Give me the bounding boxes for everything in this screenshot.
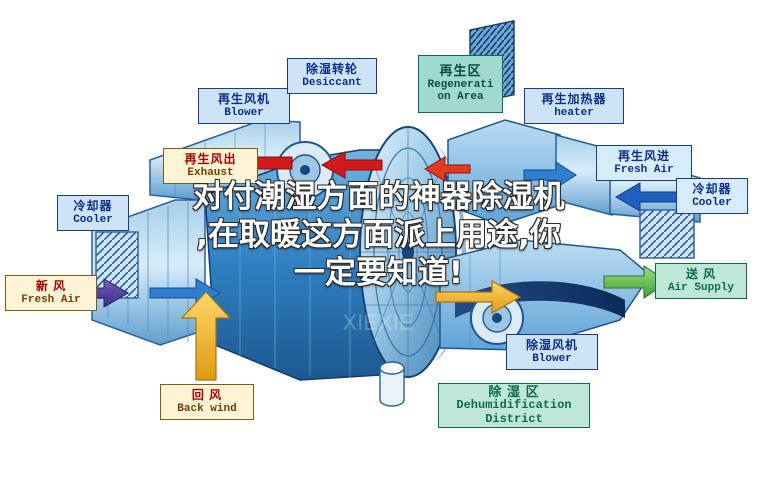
label-regen-heater-cn: 再生加热器 <box>541 93 606 106</box>
label-desiccant-rotor-en: Desiccant <box>302 77 361 89</box>
label-regen-fresh-air-en: Fresh Air <box>614 164 673 176</box>
label-fresh-air-en: Fresh Air <box>21 294 80 306</box>
label-cooler-right-en: Cooler <box>692 197 732 209</box>
label-regen-fresh-air-cn: 再生风进 <box>618 150 670 163</box>
label-regen-blower-cn: 再生风机 <box>218 93 270 106</box>
label-cooler-left-cn: 冷却器 <box>73 200 112 213</box>
label-regeneration-area-en: Regenerati on Area <box>427 79 493 104</box>
label-cooler-right: 冷却器 Cooler <box>676 178 748 214</box>
label-dehum-blower: 除湿风机 Blower <box>506 334 598 370</box>
label-regeneration-area: 再生区 Regenerati on Area <box>418 55 503 113</box>
label-dehum-blower-en: Blower <box>532 353 572 365</box>
label-cooler-left: 冷却器 Cooler <box>57 195 129 231</box>
label-regen-heater: 再生加热器 heater <box>524 88 624 124</box>
label-air-supply: 送 风 Air Supply <box>655 263 747 299</box>
label-regen-fresh-air: 再生风进 Fresh Air <box>596 145 692 181</box>
schematic-artwork: XIEXIE <box>0 0 757 488</box>
label-desiccant-rotor-cn: 除湿转轮 <box>306 63 358 76</box>
label-regen-blower-en: Blower <box>224 107 264 119</box>
label-regeneration-area-cn: 再生区 <box>439 64 481 79</box>
label-back-wind: 回 风 Back wind <box>160 384 254 420</box>
label-fresh-air-cn: 新 风 <box>36 280 66 293</box>
label-back-wind-cn: 回 风 <box>192 389 222 402</box>
label-fresh-air: 新 风 Fresh Air <box>5 275 97 311</box>
label-dehumidification-district: 除 湿 区 Dehumidification District <box>438 383 590 428</box>
label-regen-blower: 再生风机 Blower <box>198 88 290 124</box>
label-exhaust: 再生风出 Exhaust <box>163 148 258 184</box>
diagram-canvas: XIEXIE 再生风出 Exhaust 再生风机 Blower 除湿转轮 Des… <box>0 0 757 488</box>
label-exhaust-cn: 再生风出 <box>184 153 236 166</box>
label-cooler-left-en: Cooler <box>73 214 113 226</box>
label-desiccant-rotor: 除湿转轮 Desiccant <box>287 58 377 94</box>
label-exhaust-en: Exhaust <box>187 167 233 179</box>
label-dehumidification-district-cn: 除 湿 区 <box>488 385 539 400</box>
label-cooler-right-cn: 冷却器 <box>692 183 731 196</box>
label-back-wind-en: Back wind <box>177 403 236 415</box>
svg-text:XIEXIE: XIEXIE <box>343 310 414 335</box>
label-dehumidification-district-en: Dehumidification District <box>456 399 571 426</box>
label-air-supply-cn: 送 风 <box>686 268 716 281</box>
label-dehum-blower-cn: 除湿风机 <box>526 339 578 352</box>
label-regen-heater-en: heater <box>554 107 594 119</box>
label-air-supply-en: Air Supply <box>668 282 734 294</box>
